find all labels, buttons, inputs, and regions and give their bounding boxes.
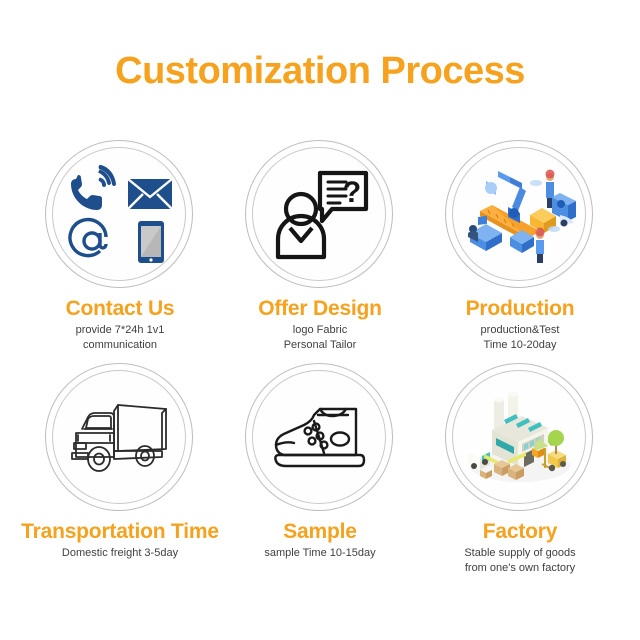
- step-subtitle-line: logo Fabric: [210, 323, 430, 338]
- step-subtitle: provide 7*24h 1v1 communication: [10, 323, 230, 353]
- step-labels: Contact Us provide 7*24h 1v1 communicati…: [10, 298, 230, 353]
- smartphone-icon: [138, 221, 164, 263]
- step-subtitle-line: from one's own factory: [410, 561, 630, 576]
- at-sign-icon: [70, 220, 106, 256]
- step-title: Factory: [410, 521, 630, 543]
- step-labels: Factory Stable supply of goods from one'…: [410, 521, 630, 576]
- step-subtitle: Stable supply of goods from one's own fa…: [410, 546, 630, 576]
- step-subtitle-line: Stable supply of goods: [410, 546, 630, 561]
- boot-shoe-outline-icon: [275, 409, 364, 466]
- step-circle-factory: [445, 363, 595, 513]
- step-factory[interactable]: Factory Stable supply of goods from one'…: [420, 363, 620, 576]
- step-title: Offer Design: [210, 298, 430, 320]
- step-circle-transportation: [45, 363, 195, 513]
- step-subtitle-line: provide 7*24h 1v1: [10, 323, 230, 338]
- step-subtitle: sample Time 10-15day: [210, 546, 430, 561]
- step-title: Contact Us: [10, 298, 230, 320]
- person-with-speech-bubble-icon: [278, 194, 324, 257]
- step-circle-sample: [245, 363, 395, 513]
- contact-icons-group: [64, 159, 176, 271]
- step-contact-us[interactable]: Contact Us provide 7*24h 1v1 communicati…: [20, 140, 220, 353]
- step-offer-design[interactable]: ? Offer Design logo Fabric Personal Tail…: [220, 140, 420, 353]
- envelope-icon: [128, 179, 172, 209]
- step-subtitle-line: Personal Tailor: [210, 338, 430, 353]
- step-subtitle-line: sample Time 10-15day: [210, 546, 430, 561]
- steps-grid: Contact Us provide 7*24h 1v1 communicati…: [0, 140, 640, 575]
- steps-row-top: Contact Us provide 7*24h 1v1 communicati…: [0, 140, 640, 353]
- page-title: Customization Process: [0, 52, 640, 90]
- isometric-factory-building-illustration: [468, 391, 570, 481]
- step-subtitle-line: Time 10-20day: [410, 338, 630, 353]
- step-sample[interactable]: Sample sample Time 10-15day: [220, 363, 420, 576]
- worker-icon: [536, 228, 545, 264]
- step-subtitle-line: production&Test: [410, 323, 630, 338]
- truck-icon-group: [64, 382, 176, 494]
- step-title: Transportation Time: [10, 521, 230, 543]
- step-subtitle: production&Test Time 10-20day: [410, 323, 630, 353]
- infographic-page: Customization Process: [0, 0, 640, 640]
- phone-ringing-icon: [71, 165, 116, 210]
- production-illustration: [464, 159, 576, 271]
- step-labels: Sample sample Time 10-15day: [210, 521, 430, 561]
- step-title: Production: [410, 298, 630, 320]
- step-subtitle-line: communication: [10, 338, 230, 353]
- step-labels: Transportation Time Domestic freight 3-5…: [10, 521, 230, 561]
- step-subtitle-line: Domestic freight 3-5day: [10, 546, 230, 561]
- step-labels: Offer Design logo Fabric Personal Tailor: [210, 298, 430, 353]
- step-subtitle: Domestic freight 3-5day: [10, 546, 230, 561]
- step-subtitle: logo Fabric Personal Tailor: [210, 323, 430, 353]
- design-icon-group: ?: [264, 159, 376, 271]
- step-production[interactable]: Production production&Test Time 10-20day: [420, 140, 620, 353]
- step-labels: Production production&Test Time 10-20day: [410, 298, 630, 353]
- shoe-icon-group: [264, 382, 376, 494]
- step-title: Sample: [210, 521, 430, 543]
- step-circle-offer-design: ?: [245, 140, 395, 290]
- question-mark-icon: ?: [343, 176, 361, 209]
- isometric-factory-production-illustration: [468, 170, 576, 264]
- box-truck-sketch-icon: [72, 405, 166, 471]
- step-circle-contact-us: [45, 140, 195, 290]
- steps-row-bottom: Transportation Time Domestic freight 3-5…: [0, 363, 640, 576]
- step-transportation-time[interactable]: Transportation Time Domestic freight 3-5…: [20, 363, 220, 576]
- step-circle-production: [445, 140, 595, 290]
- factory-illustration: [464, 382, 576, 494]
